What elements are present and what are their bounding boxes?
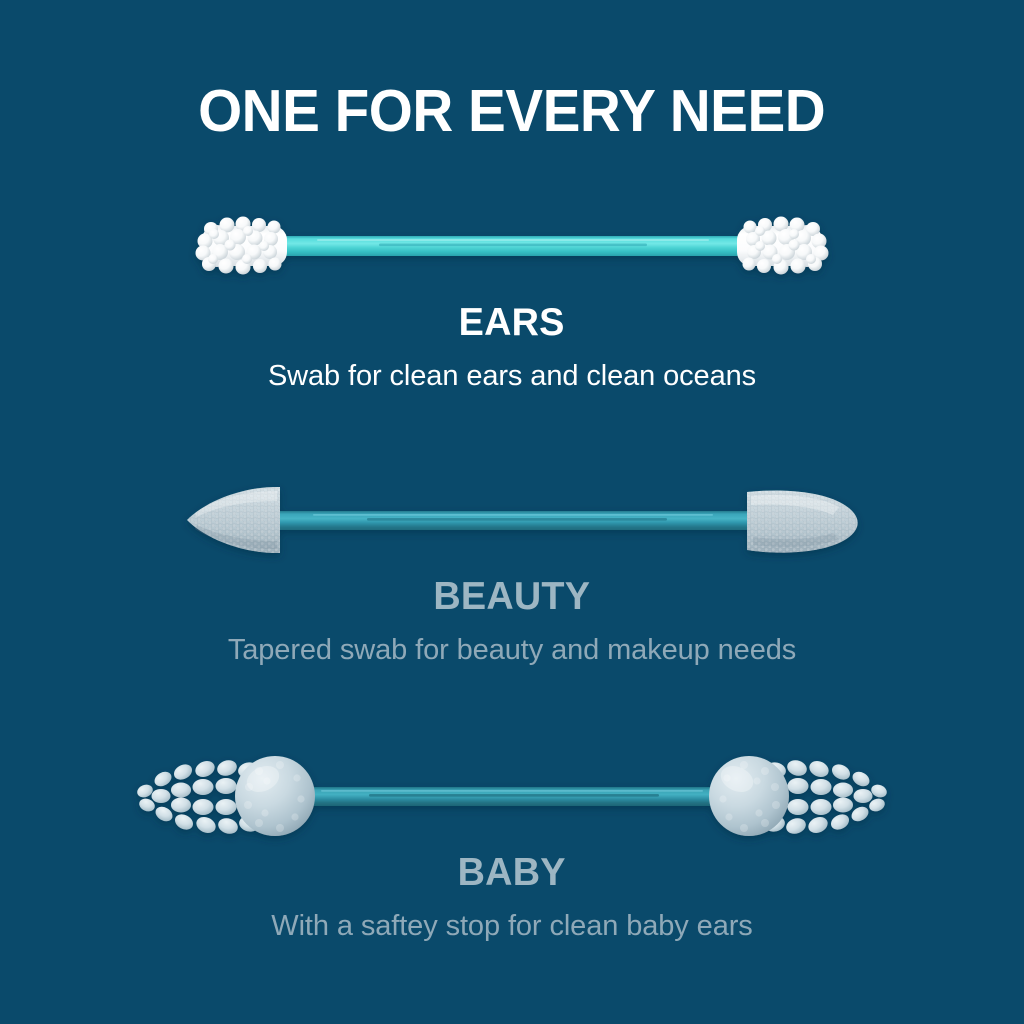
beauty-tip-right-paddle — [747, 490, 858, 552]
baby-tip-left — [135, 756, 315, 836]
product-description-beauty: Tapered swab for beauty and makeup needs — [228, 635, 796, 667]
product-row-ears: EARS Swab for clean ears and clean ocean… — [0, 193, 1024, 393]
baby-tip-right — [709, 756, 889, 836]
product-description-baby: With a saftey stop for clean baby ears — [271, 911, 752, 943]
product-list: EARS Swab for clean ears and clean ocean… — [0, 141, 1024, 1024]
ears-tip-right — [737, 217, 829, 275]
product-row-beauty: BEAUTY Tapered swab for beauty and makeu… — [0, 467, 1024, 667]
beauty-swab-illustration — [117, 467, 907, 573]
infographic-page: ONE FOR EVERY NEED — [0, 0, 1024, 1024]
ears-tip-left — [196, 217, 288, 275]
product-label-beauty: BEAUTY — [434, 577, 591, 616]
ears-swab-illustration — [117, 193, 907, 299]
beauty-tip-left-tapered — [187, 487, 280, 553]
product-label-ears: EARS — [459, 303, 565, 342]
product-row-baby: BABY With a saftey stop for clean baby e… — [0, 743, 1024, 943]
product-description-ears: Swab for clean ears and clean oceans — [268, 361, 756, 393]
baby-swab-illustration — [117, 743, 907, 849]
page-title: ONE FOR EVERY NEED — [198, 82, 825, 141]
product-label-baby: BABY — [458, 853, 566, 892]
